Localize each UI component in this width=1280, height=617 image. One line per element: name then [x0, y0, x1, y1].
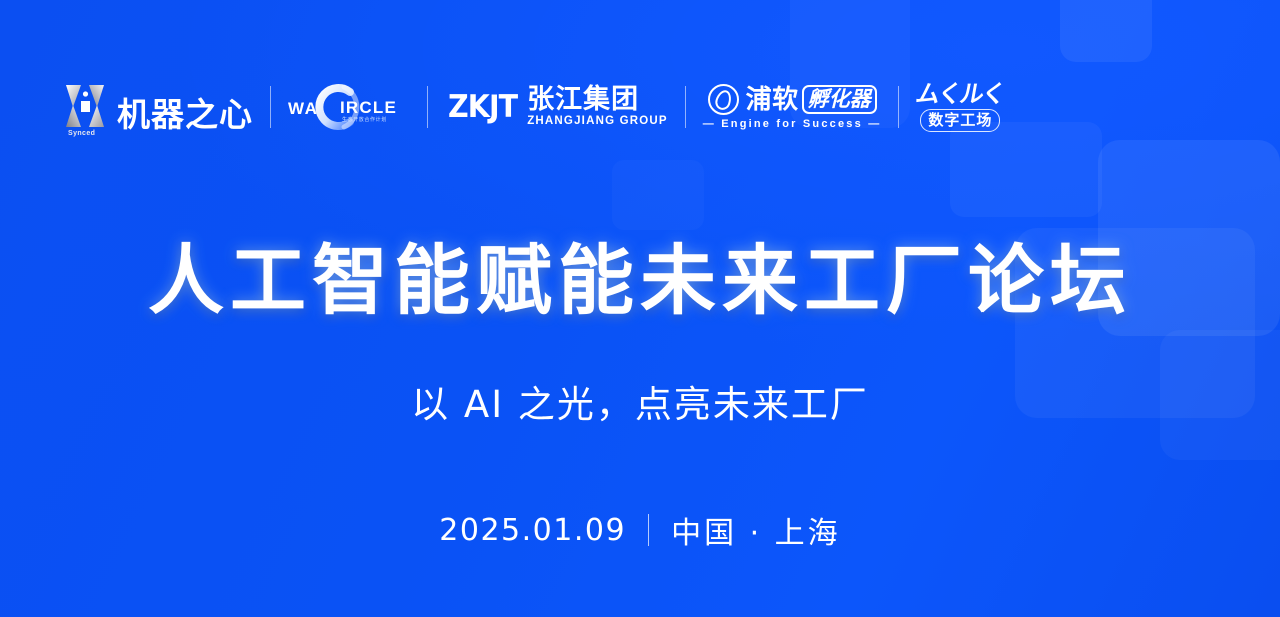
pursoft-tagline-en: — Engine for Success —	[703, 118, 882, 130]
logo-digital-factory: ムくルく 数字工场	[916, 79, 1004, 135]
logo-divider	[685, 86, 686, 128]
logo-divider	[427, 86, 428, 128]
event-location: 中国 · 上海	[671, 508, 841, 552]
logo-wai-circle: WAI IRCLE 生态开放合作计划	[288, 79, 410, 135]
synced-wordmark-en: Synced	[68, 130, 95, 137]
logo-divider	[270, 86, 271, 128]
zhangjiang-name-cn: 张江集团	[527, 86, 668, 114]
pursoft-name-cn: 浦软	[746, 87, 799, 113]
zhangjiang-name-en: ZHANGJIANG GROUP	[527, 115, 668, 128]
zhangjiang-wordmark: 张江集团 ZHANGJIANG GROUP	[527, 86, 668, 128]
poster-subtitle: 以 AI 之光，点亮未来工厂	[0, 386, 1280, 423]
logo-synced: Synced 机器之心	[62, 79, 253, 135]
pursoft-incubator-badge: 孵化器	[802, 85, 877, 113]
synced-hourglass-icon: Synced	[62, 79, 108, 135]
background-block	[612, 160, 704, 230]
wai-suffix-text: IRCLE	[340, 98, 397, 118]
zhangjiang-monogram: ZKJT	[448, 89, 517, 125]
synced-hourglass-svg	[62, 79, 108, 135]
poster-meta: 2025.01.09 中国 · 上海	[0, 508, 1280, 552]
logo-divider	[898, 86, 899, 128]
event-date: 2025.01.09	[439, 513, 626, 548]
digital-factory-monogram: ムくルく	[914, 82, 1006, 106]
pursoft-leaf-icon	[708, 84, 739, 115]
meta-divider	[648, 514, 649, 546]
background-block	[1060, 0, 1152, 62]
synced-wordmark-cn: 机器之心	[117, 98, 253, 131]
event-poster: Synced 机器之心 WAI IRCLE 生态开放合作计划	[0, 0, 1280, 617]
digital-factory-name-cn: 数字工场	[920, 109, 1000, 131]
logo-zhangjiang-group: ZKJT 张江集团 ZHANGJIANG GROUP	[445, 79, 668, 135]
poster-title: 人工智能赋能未来工厂论坛	[0, 243, 1280, 319]
logo-pursoft-incubator: 浦软 孵化器 — Engine for Success —	[703, 79, 882, 135]
wai-subtitle-text: 生态开放合作计划	[342, 116, 387, 123]
pursoft-row: 浦软 孵化器	[708, 84, 877, 115]
sponsor-logo-bar: Synced 机器之心 WAI IRCLE 生态开放合作计划	[62, 76, 1004, 138]
